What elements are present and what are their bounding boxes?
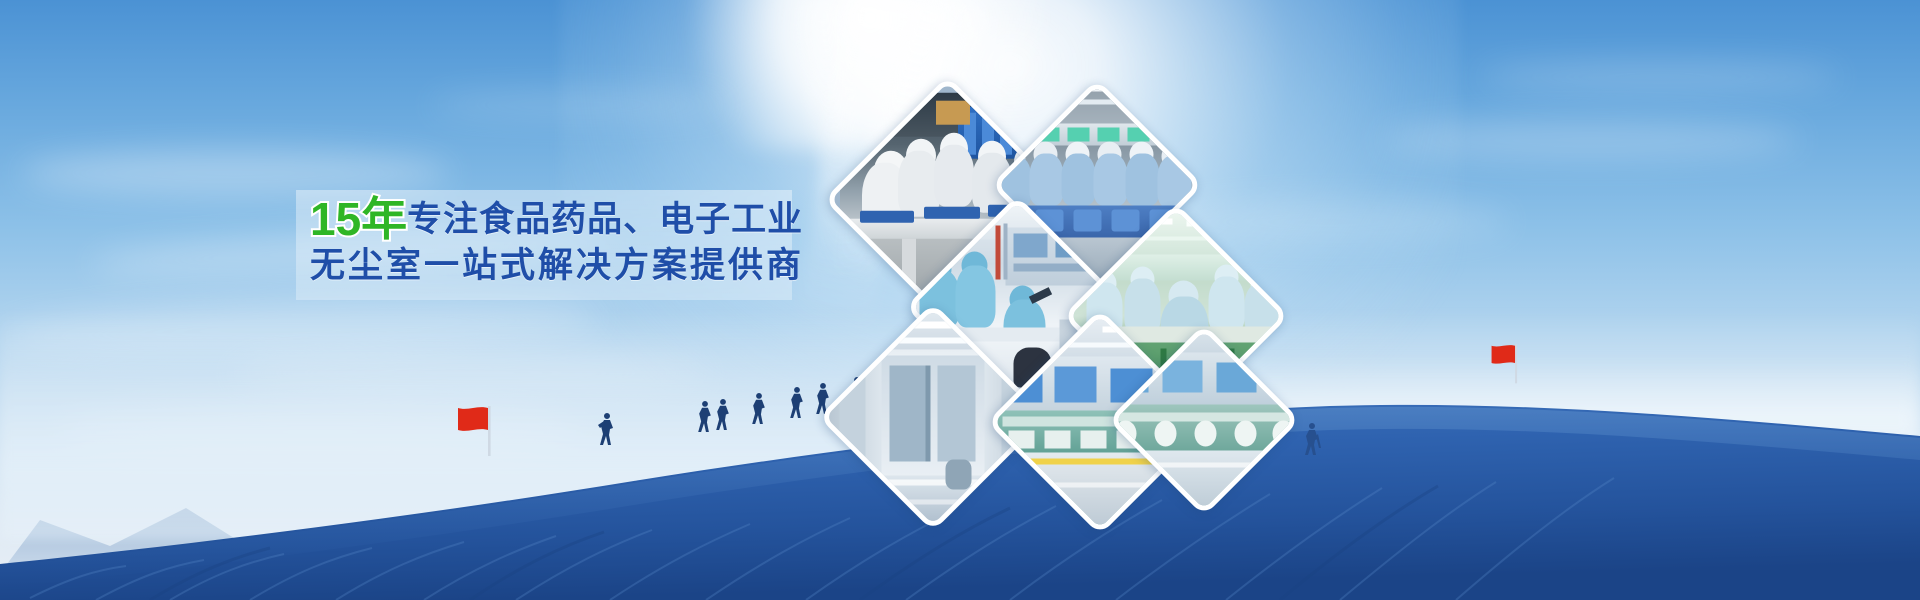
climber-silhouette xyxy=(712,398,734,431)
headline-block: 15年专注食品药品、电子工业 无尘室一站式解决方案提供商 xyxy=(310,196,800,298)
cloud xyxy=(1480,62,1840,92)
headline-line-1-rest: 专注食品药品、电子工业 xyxy=(407,200,803,239)
climber-silhouette xyxy=(596,412,618,446)
red-flag-icon xyxy=(456,404,502,456)
hero-banner: 15年专注食品药品、电子工业 无尘室一站式解决方案提供商 xyxy=(0,0,1920,600)
climber-silhouette xyxy=(786,386,808,419)
headline-line-2: 无尘室一站式解决方案提供商 xyxy=(310,248,800,298)
diamond-photo-collage xyxy=(830,80,1300,480)
cloud xyxy=(1380,120,1800,160)
climber-silhouette xyxy=(748,392,770,425)
climber-silhouette xyxy=(1300,422,1324,456)
red-flag-icon xyxy=(1490,342,1526,384)
headline-line-1: 15年专注食品药品、电子工业 xyxy=(310,196,800,250)
cloud xyxy=(430,92,730,118)
years-highlight: 15年 xyxy=(310,193,407,245)
